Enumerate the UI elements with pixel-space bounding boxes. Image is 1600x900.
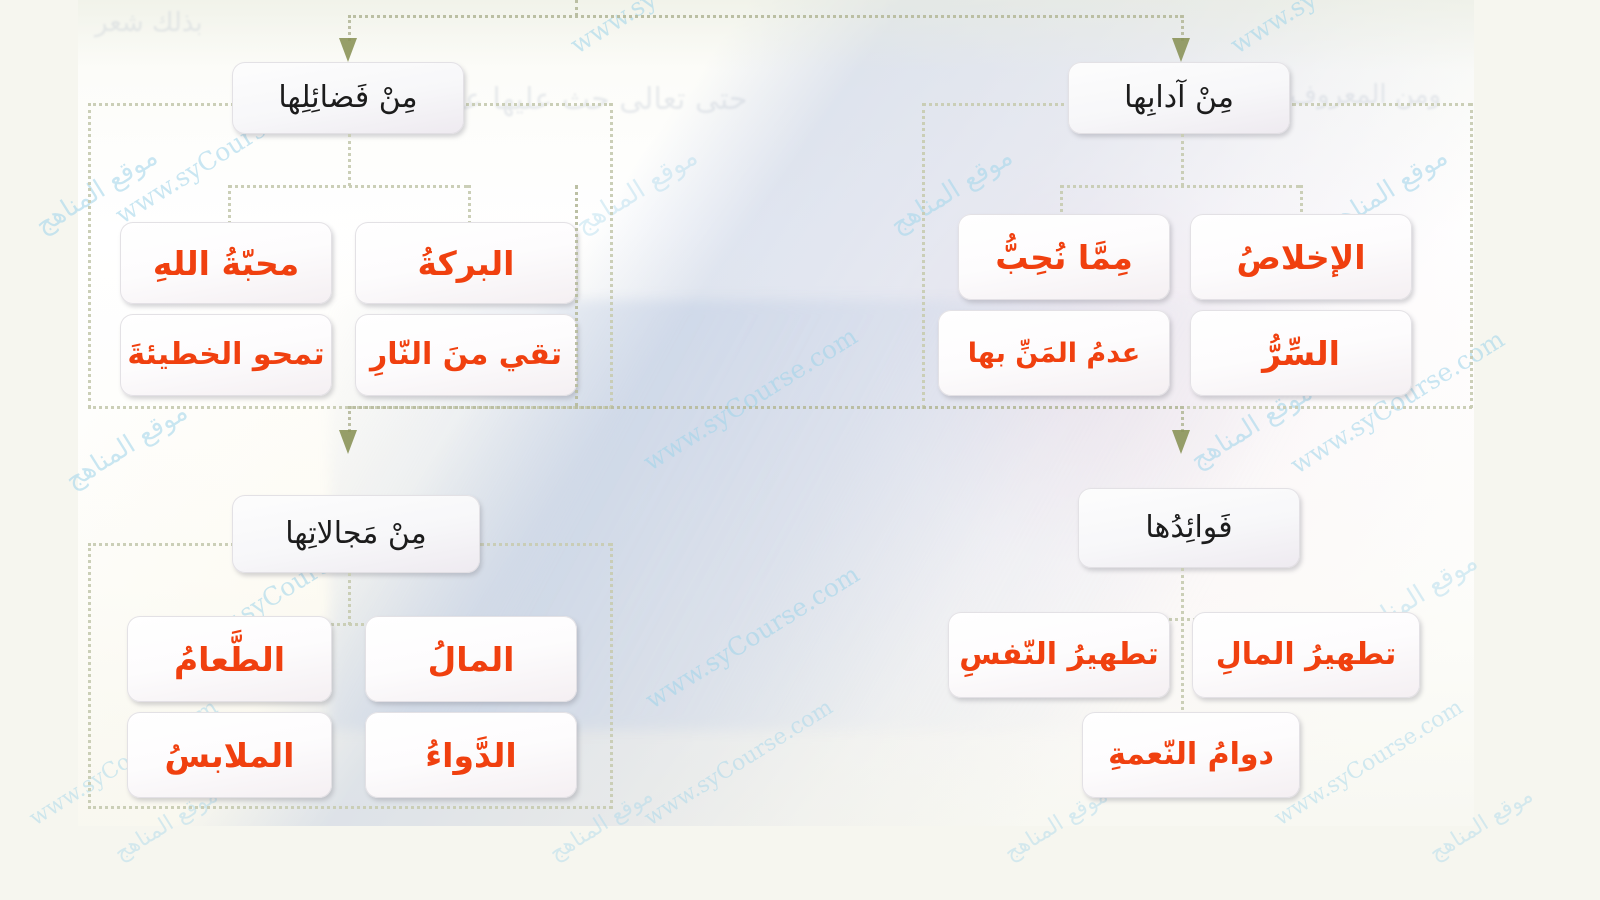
node-label: مِنْ مَجالاتِها: [285, 519, 426, 549]
frame-top-right-left: [922, 103, 925, 408]
node-label: الإخلاصُ: [1236, 241, 1365, 274]
subspine-adab: [1060, 185, 1300, 188]
arrow-bottom-left: [339, 430, 357, 454]
frame-bottom-left-top-a: [88, 543, 240, 546]
node-leaf-mahabba[interactable]: محبّةُ اللهِ: [120, 222, 332, 304]
node-label: تمحو الخطيئةَ: [127, 340, 324, 370]
branch-drop-bottom-right: [1181, 406, 1184, 432]
frame-bottom-left-bottom: [88, 806, 612, 809]
node-label: عدمُ المَنِّ بها: [968, 340, 1141, 367]
mid-spine-horizontal: [348, 406, 1183, 409]
node-leaf-maal[interactable]: المالُ: [365, 616, 577, 702]
node-label: مِنْ آدابِها: [1124, 83, 1234, 113]
node-label: تطهيرُ المالِ: [1216, 640, 1397, 670]
frame-top-left-top-a: [88, 103, 240, 106]
node-label: محبّةُ اللهِ: [153, 247, 299, 280]
node-header-majalat[interactable]: مِنْ مَجالاتِها: [232, 495, 480, 573]
frame-top-left-left: [88, 103, 91, 408]
frame-bottom-left-right: [610, 543, 613, 809]
node-header-fadail[interactable]: مِنْ فَضائِلِها: [232, 62, 464, 134]
mid-spine-vertical: [575, 185, 578, 407]
node-label: البركةُ: [418, 247, 515, 280]
node-header-fawaid[interactable]: فَوائِدُها: [1078, 488, 1300, 568]
node-label: فَوائِدُها: [1145, 513, 1232, 543]
root-spine-horizontal: [348, 15, 1183, 18]
node-leaf-mimma[interactable]: مِمَّا نُحِبُّ: [958, 214, 1170, 300]
node-label: تطهيرُ النّفسِ: [959, 640, 1158, 670]
node-leaf-khatia[interactable]: تمحو الخطيئةَ: [120, 314, 332, 396]
node-label: السِّرُّ: [1262, 337, 1340, 370]
node-label: المالُ: [428, 643, 515, 676]
stem-adab: [1181, 134, 1184, 186]
node-leaf-dawa[interactable]: الدَّواءُ: [365, 712, 577, 798]
frame-top-left-right: [610, 103, 613, 408]
node-label: الطَّعامُ: [174, 643, 285, 676]
frame-bottom-left-top-b: [480, 543, 612, 546]
frame-top-left-top-b: [455, 103, 612, 106]
node-label: دوامُ النّعمةِ: [1108, 740, 1274, 770]
node-leaf-dawamnima[interactable]: دوامُ النّعمةِ: [1082, 712, 1300, 798]
arrow-bottom-right: [1172, 430, 1190, 454]
frame-top-right-top-a: [922, 103, 1072, 106]
stem-fadail: [348, 134, 351, 186]
stem-fawaid: [1181, 568, 1184, 620]
node-label: الدَّواءُ: [425, 739, 516, 772]
arrow-top-left: [339, 38, 357, 62]
node-label: الملابسُ: [165, 739, 295, 772]
arrow-top-right: [1172, 38, 1190, 62]
stem-majalat: [348, 573, 351, 625]
page-canvas: بذلك شعر حتى تعالى حث عليها على ومن المع…: [0, 0, 1600, 900]
node-leaf-tathirnafs[interactable]: تطهيرُ النّفسِ: [948, 612, 1170, 698]
node-leaf-baraka[interactable]: البركةُ: [355, 222, 577, 304]
frame-top-right-right: [1470, 103, 1473, 408]
node-leaf-ikhlas[interactable]: الإخلاصُ: [1190, 214, 1412, 300]
frame-top-right-top-b: [1292, 103, 1472, 106]
node-leaf-mann[interactable]: عدمُ المَنِّ بها: [938, 310, 1170, 396]
node-leaf-tathirmal[interactable]: تطهيرُ المالِ: [1192, 612, 1420, 698]
node-leaf-taam[interactable]: الطَّعامُ: [127, 616, 332, 702]
node-header-adab[interactable]: مِنْ آدابِها: [1068, 62, 1290, 134]
root-spine-vertical: [575, 0, 578, 16]
node-label: مِنْ فَضائِلِها: [278, 83, 417, 113]
branch-drop-bottom-left: [348, 406, 351, 432]
subspine-fadail: [228, 185, 468, 188]
node-label: تقي منَ النّارِ: [370, 340, 562, 370]
node-leaf-malabis[interactable]: الملابسُ: [127, 712, 332, 798]
node-label: مِمَّا نُحِبُّ: [995, 241, 1133, 274]
frame-bottom-left-left: [88, 543, 91, 809]
node-leaf-naar[interactable]: تقي منَ النّارِ: [355, 314, 577, 396]
node-leaf-sirr[interactable]: السِّرُّ: [1190, 310, 1412, 396]
